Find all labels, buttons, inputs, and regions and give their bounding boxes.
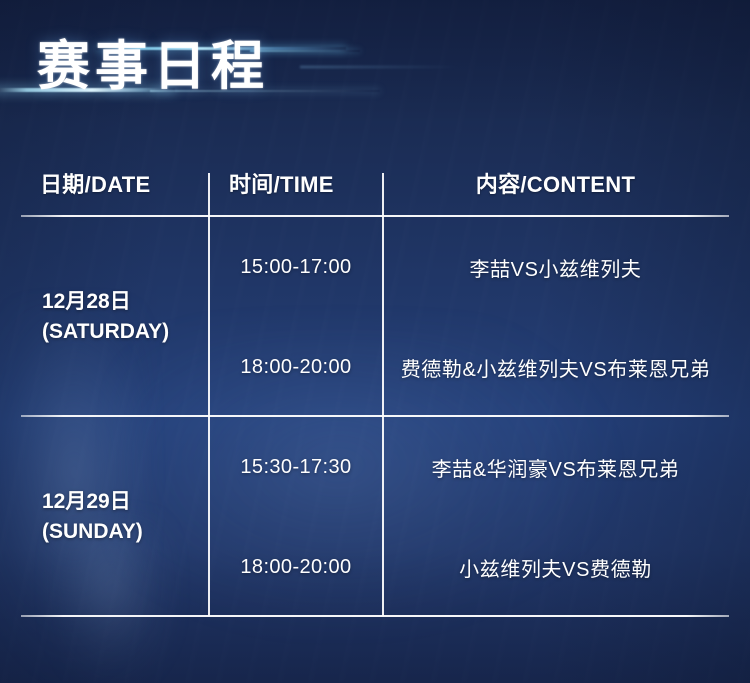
slot-time: 18:00-20:00	[210, 356, 382, 379]
match-slot-list: 15:30-17:30 李喆&华润豪VS布莱恩兄弟 18:00-20:00 小兹…	[210, 417, 729, 617]
page-title: 赛事日程	[37, 35, 269, 99]
date-cell: 12月28日 (SATURDAY)	[42, 217, 208, 417]
match-slot: 15:30-17:30 李喆&华润豪VS布莱恩兄弟	[210, 442, 729, 492]
date-cell: 12月29日 (SUNDAY)	[42, 417, 208, 617]
slot-content: 小兹维列夫VS费德勒	[382, 553, 729, 582]
date-cn: 12月28日	[42, 287, 131, 317]
match-slot-list: 15:00-17:00 李喆VS小兹维列夫 18:00-20:00 费德勒&小兹…	[210, 217, 729, 417]
date-en: (SUNDAY)	[42, 517, 143, 547]
column-header-time: 时间/TIME	[229, 167, 334, 199]
poster-canvas: 赛事日程 日期/DATE 时间/TIME 内容/CONTENT 12月28日 (…	[0, 0, 750, 683]
slot-content: 李喆&华润豪VS布莱恩兄弟	[382, 453, 729, 482]
column-header-date: 日期/DATE	[40, 167, 150, 199]
table-header-row: 日期/DATE 时间/TIME 内容/CONTENT	[21, 155, 729, 215]
slot-time: 15:00-17:00	[210, 256, 382, 279]
slot-content: 李喆VS小兹维列夫	[382, 253, 729, 282]
match-slot: 15:00-17:00 李喆VS小兹维列夫	[210, 242, 729, 292]
date-cn: 12月29日	[42, 487, 131, 517]
slot-time: 15:30-17:30	[210, 456, 382, 479]
light-streak-mid-icon	[300, 66, 460, 68]
match-slot: 18:00-20:00 小兹维列夫VS费德勒	[210, 542, 729, 592]
table-row: 12月29日 (SUNDAY) 15:30-17:30 李喆&华润豪VS布莱恩兄…	[21, 417, 729, 617]
column-header-content: 内容/CONTENT	[382, 167, 729, 199]
slot-content: 费德勒&小兹维列夫VS布莱恩兄弟	[382, 353, 729, 382]
slot-time: 18:00-20:00	[210, 556, 382, 579]
table-row: 12月28日 (SATURDAY) 15:00-17:00 李喆VS小兹维列夫 …	[21, 217, 729, 417]
title-area: 赛事日程	[0, 0, 750, 130]
date-en: (SATURDAY)	[42, 317, 169, 347]
match-slot: 18:00-20:00 费德勒&小兹维列夫VS布莱恩兄弟	[210, 342, 729, 392]
